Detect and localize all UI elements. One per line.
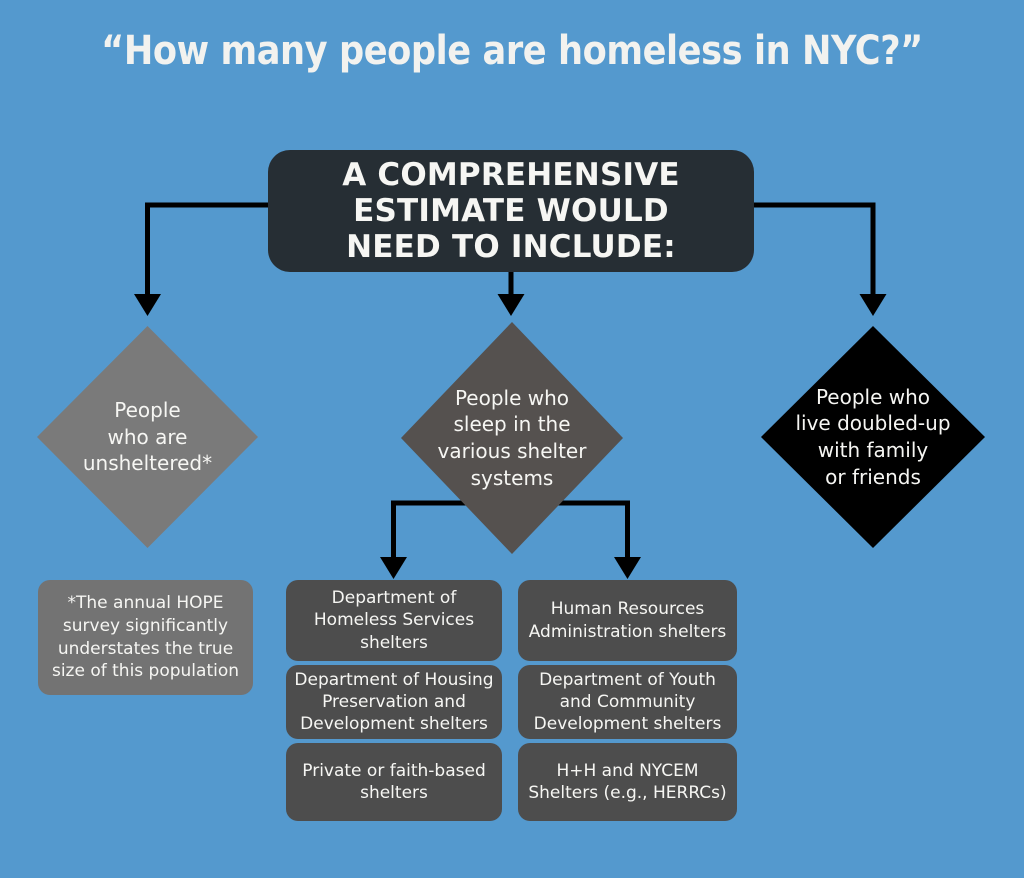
header-box-text: A COMPREHENSIVE ESTIMATE WOULD NEED TO I…	[342, 157, 680, 266]
diamond-doubled-up-line-3: with family	[781, 437, 965, 464]
infographic-canvas: “How many people are homeless in NYC?” A…	[0, 0, 1024, 878]
diamond-shelter-line-1: People who	[425, 385, 598, 412]
diamond-shelter-systems-text: People who sleep in the various shelter …	[425, 385, 598, 491]
arrowhead-left-column	[380, 557, 407, 579]
shelter-box-hpd: Department of Housing Preservation and D…	[286, 665, 502, 739]
diamond-shelter-line-3: various shelter	[425, 438, 598, 465]
shelter-box-dycd-label: Department of Youth and Community Develo…	[526, 669, 729, 735]
shelter-box-private-label: Private or faith-based shelters	[294, 760, 494, 804]
diamond-shelter-line-2: sleep in the	[425, 411, 598, 438]
header-box: A COMPREHENSIVE ESTIMATE WOULD NEED TO I…	[268, 150, 754, 272]
diamond-unsheltered-line-3: unsheltered*	[68, 450, 227, 477]
header-line-3: NEED TO INCLUDE:	[342, 229, 680, 265]
page-title: “How many people are homeless in NYC?”	[61, 30, 962, 72]
diamond-unsheltered-line-2: who are	[68, 424, 227, 451]
diamond-doubled-up-line-4: or friends	[781, 464, 965, 491]
arrowhead-unsheltered	[134, 294, 161, 316]
diamond-shelter-systems: People who sleep in the various shelter …	[401, 322, 623, 554]
arrowhead-shelter	[498, 294, 525, 316]
diamond-doubled-up: People who live doubled-up with family o…	[761, 326, 985, 548]
footnote-box: *The annual HOPE survey significantly un…	[38, 580, 253, 695]
footnote-text: *The annual HOPE survey significantly un…	[46, 592, 245, 682]
shelter-box-private: Private or faith-based shelters	[286, 743, 502, 821]
shelter-box-hra: Human Resources Administration shelters	[518, 580, 737, 661]
shelter-box-hpd-label: Department of Housing Preservation and D…	[294, 669, 494, 735]
shelter-box-hh: H+H and NYCEM Shelters (e.g., HERRCs)	[518, 743, 737, 821]
diamond-unsheltered: People who are unsheltered*	[37, 326, 258, 548]
connector-header-to-unsheltered	[148, 205, 269, 296]
header-line-1: A COMPREHENSIVE	[342, 157, 680, 193]
shelter-box-hh-label: H+H and NYCEM Shelters (e.g., HERRCs)	[526, 760, 729, 804]
diamond-doubled-up-line-1: People who	[781, 384, 965, 411]
diamond-doubled-up-text: People who live doubled-up with family o…	[781, 384, 965, 490]
diamond-doubled-up-line-2: live doubled-up	[781, 410, 965, 437]
arrowhead-doubled-up	[860, 294, 887, 316]
diamond-shelter-line-4: systems	[425, 465, 598, 492]
header-line-2: ESTIMATE WOULD	[342, 193, 680, 229]
diamond-unsheltered-line-1: People	[68, 397, 227, 424]
shelter-box-dhs-label: Department of Homeless Services shelters	[294, 587, 494, 653]
shelter-box-dycd: Department of Youth and Community Develo…	[518, 665, 737, 739]
connector-header-to-doubled-up	[754, 205, 873, 296]
diamond-unsheltered-text: People who are unsheltered*	[68, 397, 227, 477]
shelter-box-dhs: Department of Homeless Services shelters	[286, 580, 502, 661]
arrowhead-right-column	[614, 557, 641, 579]
shelter-box-hra-label: Human Resources Administration shelters	[526, 598, 729, 642]
